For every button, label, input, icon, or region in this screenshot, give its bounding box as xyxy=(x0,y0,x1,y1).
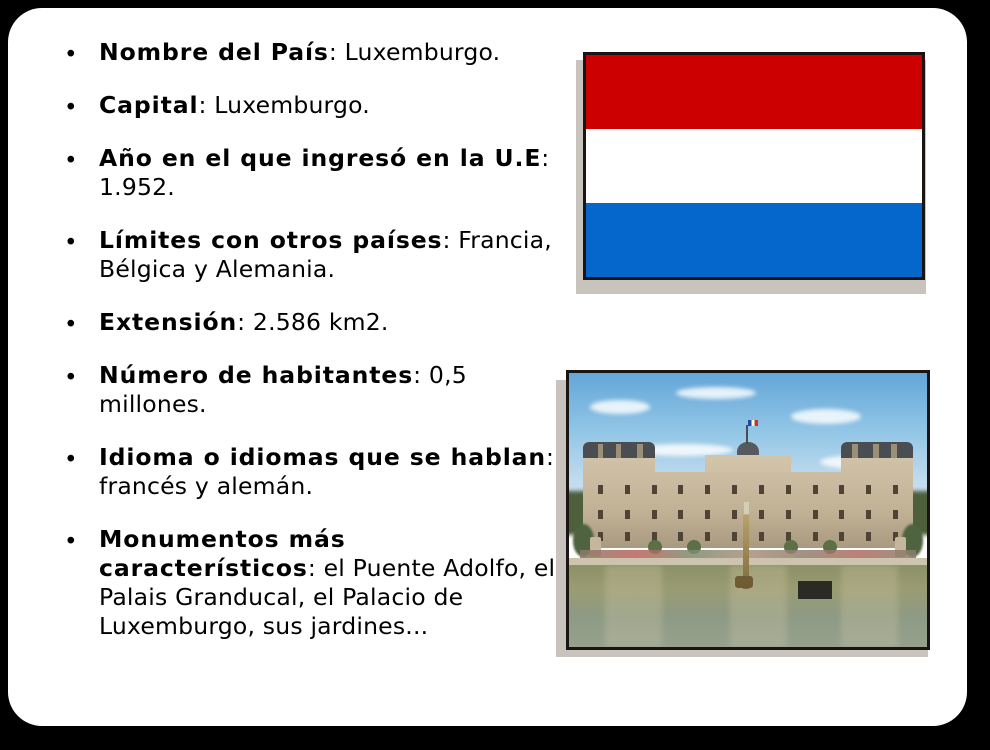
bullet-label: Año en el que ingresó en la U.E xyxy=(99,144,541,172)
water-reflection xyxy=(841,565,898,647)
bullet-marker-icon: • xyxy=(64,361,78,395)
window xyxy=(705,510,710,519)
list-item: • Extensión: 2.586 km2. xyxy=(56,308,556,337)
list-item: • Nombre del País: Luxemburgo. xyxy=(56,38,556,67)
window xyxy=(813,532,818,541)
window xyxy=(652,485,657,494)
chimney xyxy=(616,444,622,458)
cloud xyxy=(676,387,756,399)
bullet-text: Monumentos más característicos: el Puent… xyxy=(99,525,556,641)
french-flag-icon xyxy=(748,420,758,426)
bullet-label: Capital xyxy=(99,91,198,119)
window xyxy=(759,485,764,494)
list-item: • Límites con otros países: Francia, Bél… xyxy=(56,226,556,284)
bullet-label: Extensión xyxy=(99,308,237,336)
bullet-marker-icon: • xyxy=(64,525,78,559)
flag-band-white xyxy=(586,129,922,203)
water-reflection xyxy=(605,565,662,647)
fountain-statue xyxy=(744,502,749,514)
window-row xyxy=(587,485,909,494)
list-item: • Año en el que ingresó en la U.E: 1.952… xyxy=(56,144,556,202)
window xyxy=(893,510,898,519)
window xyxy=(813,510,818,519)
window xyxy=(786,510,791,519)
bullet-value: : 2.586 km2. xyxy=(237,308,388,336)
bullet-marker-icon: • xyxy=(64,226,78,260)
fountain-base xyxy=(735,576,753,588)
chimney xyxy=(873,444,879,458)
cloud xyxy=(791,409,861,424)
bullet-text: Nombre del País: Luxemburgo. xyxy=(99,38,556,67)
luxembourg-flag-image xyxy=(583,52,925,280)
bullet-text: Capital: Luxemburgo. xyxy=(99,91,556,120)
bullet-list: • Nombre del País: Luxemburgo. • Capital… xyxy=(56,38,556,665)
bullet-label: Límites con otros países xyxy=(99,226,442,254)
bullet-marker-icon: • xyxy=(64,144,78,178)
bullet-text: Idioma o idiomas que se hablan: francés … xyxy=(99,443,556,501)
slide-canvas: • Nombre del País: Luxemburgo. • Capital… xyxy=(8,8,967,726)
window xyxy=(705,532,710,541)
window xyxy=(625,510,630,519)
window xyxy=(839,510,844,519)
luxembourg-palace-image xyxy=(566,370,930,650)
window xyxy=(598,510,603,519)
bullet-value: : Luxemburgo. xyxy=(198,91,370,119)
chimney xyxy=(891,444,897,458)
chimney xyxy=(598,444,604,458)
flag-band-blue xyxy=(586,203,922,277)
chimney xyxy=(852,444,858,458)
window xyxy=(678,510,683,519)
window xyxy=(759,510,764,519)
bullet-text: Año en el que ingresó en la U.E: 1.952. xyxy=(99,144,556,202)
bullet-marker-icon: • xyxy=(64,308,78,342)
bullet-text: Extensión: 2.586 km2. xyxy=(99,308,556,337)
list-item: • Capital: Luxemburgo. xyxy=(56,91,556,120)
window xyxy=(705,485,710,494)
window xyxy=(625,485,630,494)
window xyxy=(678,485,683,494)
floating-object xyxy=(798,581,832,599)
bullet-marker-icon: • xyxy=(64,91,78,125)
palace-spire xyxy=(746,425,748,444)
bullet-marker-icon: • xyxy=(64,443,78,477)
slide: • Nombre del País: Luxemburgo. • Capital… xyxy=(0,0,990,750)
window xyxy=(866,532,871,541)
bullet-text: Número de habitantes: 0,5 millones. xyxy=(99,361,556,419)
bullet-text: Límites con otros países: Francia, Bélgi… xyxy=(99,226,556,284)
window xyxy=(866,510,871,519)
window xyxy=(839,532,844,541)
window xyxy=(732,510,737,519)
list-item: • Idioma o idiomas que se hablan: francé… xyxy=(56,443,556,501)
chimney xyxy=(637,444,643,458)
window xyxy=(813,485,818,494)
window xyxy=(786,485,791,494)
bullet-label: Nombre del País xyxy=(99,38,329,66)
bullet-label: Número de habitantes xyxy=(99,361,413,389)
bullet-value: : Luxemburgo. xyxy=(329,38,501,66)
window xyxy=(652,510,657,519)
window xyxy=(732,485,737,494)
window xyxy=(759,532,764,541)
window xyxy=(598,485,603,494)
flag-band-red xyxy=(586,55,922,129)
palace-photo-canvas xyxy=(569,373,927,647)
window xyxy=(625,532,630,541)
window xyxy=(732,532,737,541)
window xyxy=(839,485,844,494)
bullet-marker-icon: • xyxy=(64,38,78,72)
window xyxy=(893,485,898,494)
bullet-label: Idioma o idiomas que se hablan xyxy=(99,443,546,471)
window xyxy=(866,485,871,494)
window xyxy=(678,532,683,541)
list-item: • Número de habitantes: 0,5 millones. xyxy=(56,361,556,419)
list-item: • Monumentos más característicos: el Pue… xyxy=(56,525,556,641)
